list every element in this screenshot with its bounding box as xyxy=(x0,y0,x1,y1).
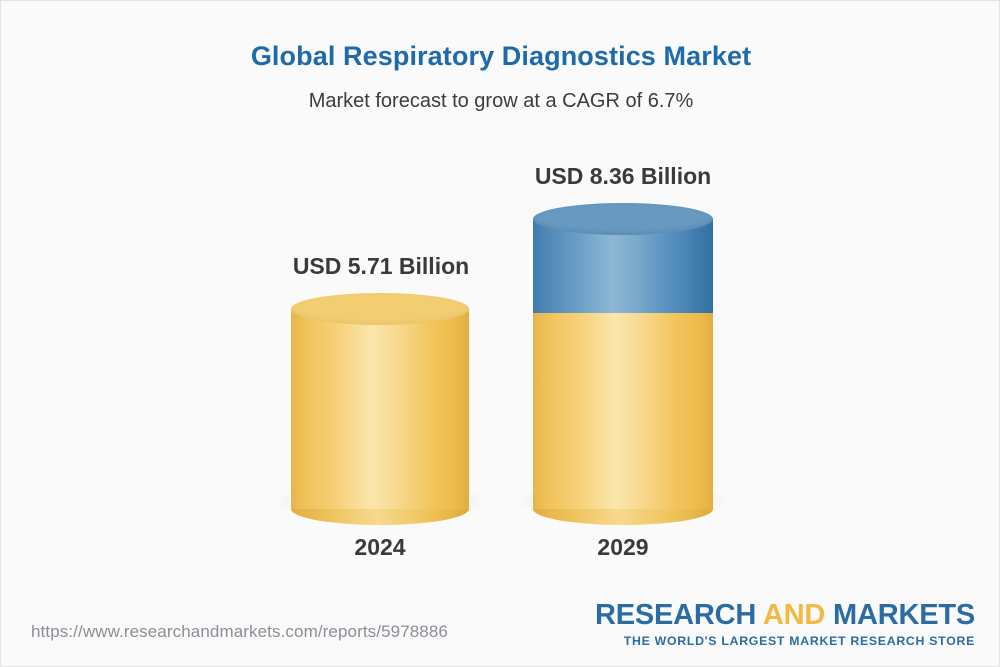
bar-segment-growth-2029 xyxy=(533,219,713,313)
brand-name-research: RESEARCH xyxy=(595,599,763,631)
bar-segment-base-body-2029 xyxy=(533,313,713,509)
brand-name-markets: MARKETS xyxy=(825,599,975,631)
brand-tagline: THE WORLD'S LARGEST MARKET RESEARCH STOR… xyxy=(595,634,975,648)
bar-segment-base-cap-2024 xyxy=(291,293,469,325)
brand-name: RESEARCH AND MARKETS xyxy=(595,601,975,631)
bar-segment-base-2024 xyxy=(291,309,469,509)
bar-cylinder-2029 xyxy=(533,203,713,509)
bar-value-label-2029: USD 8.36 Billion xyxy=(473,163,773,190)
source-url[interactable]: https://www.researchandmarkets.com/repor… xyxy=(31,622,448,642)
bar-cylinder-2024 xyxy=(291,293,469,509)
bar-segment-base-2029 xyxy=(533,313,713,509)
brand-name-and: AND xyxy=(763,599,825,631)
bar-value-label-2024: USD 5.71 Billion xyxy=(231,253,531,280)
bar-category-label-2029: 2029 xyxy=(473,534,773,561)
bar-segment-base-body-2024 xyxy=(291,309,469,509)
infographic-canvas: Global Respiratory Diagnostics Market Ma… xyxy=(0,0,1000,667)
brand-logo[interactable]: RESEARCH AND MARKETS THE WORLD'S LARGEST… xyxy=(595,601,975,648)
bar-segment-growth-cap-2029 xyxy=(533,203,713,235)
chart-plot-area: USD 5.71 Billion 2024 USD 8.36 Billion xyxy=(1,1,1000,667)
